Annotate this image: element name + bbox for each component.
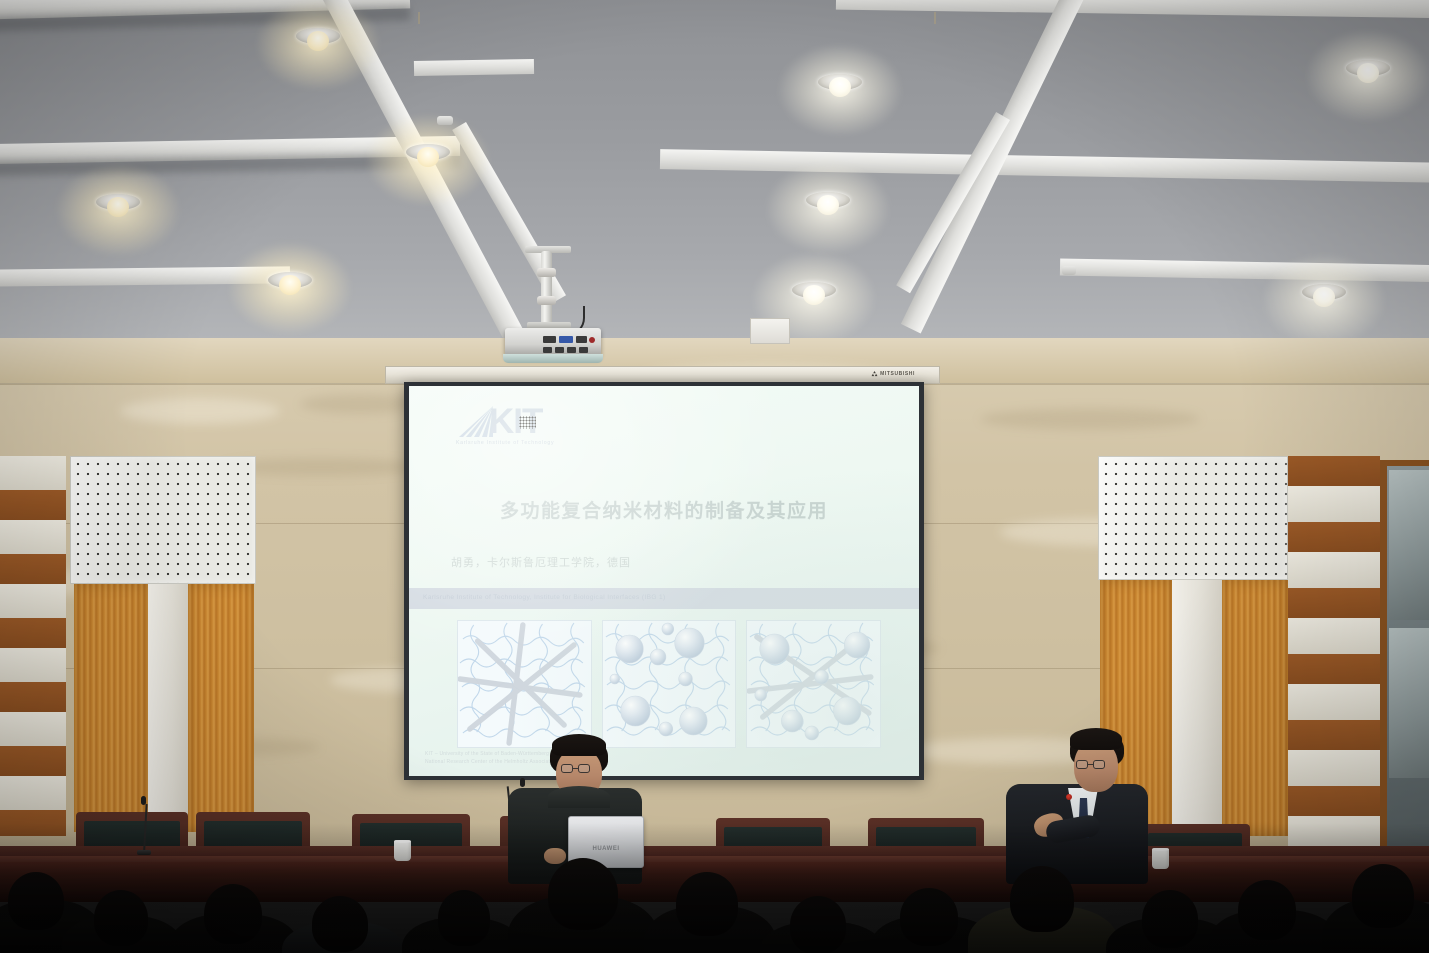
ceiling xyxy=(0,0,1429,345)
microphone-head xyxy=(141,796,146,805)
screen-hook-left xyxy=(418,12,420,24)
slide-institute-band: Karlsruhe Institute of Technology, Insti… xyxy=(409,588,919,609)
wall-mounted-box xyxy=(750,318,790,344)
audience-head xyxy=(676,872,738,936)
smoke-detector xyxy=(1062,266,1076,275)
mitsubishi-diamond-icon xyxy=(871,371,878,377)
screen-hook-right xyxy=(934,12,936,24)
ceiling-light-2 xyxy=(262,268,318,298)
projection-screen: KIT Karlsruhe Institute of Technology 多功… xyxy=(404,382,924,780)
speaker-hair-top xyxy=(1070,728,1122,750)
slide-institute-text: Karlsruhe Institute of Technology, Insti… xyxy=(423,594,666,601)
audience-head xyxy=(312,896,368,952)
audience-head xyxy=(8,872,64,930)
projector-port xyxy=(567,347,576,353)
wall-stripe xyxy=(1288,456,1380,486)
white-pillar-right xyxy=(1172,580,1222,836)
audience-head xyxy=(1238,880,1296,940)
doorway[interactable] xyxy=(1380,460,1429,860)
light-bulb xyxy=(107,197,129,217)
projector-base xyxy=(503,354,603,363)
audience-head xyxy=(204,884,262,944)
slide-illustration-panels xyxy=(457,620,881,748)
composite-panel xyxy=(746,620,881,748)
ceiling-beam-horizontal-7 xyxy=(414,59,534,76)
wall-stripe xyxy=(0,584,66,618)
kit-logo: KIT Karlsruhe Institute of Technology xyxy=(455,402,559,448)
projector-port xyxy=(543,336,556,343)
ceiling-light-4 xyxy=(400,140,456,170)
light-bulb xyxy=(307,31,329,51)
kit-tagline: Karlsruhe Institute of Technology xyxy=(456,440,554,446)
ceiling-beam-horizontal-5 xyxy=(660,149,1429,183)
light-bulb xyxy=(817,195,839,215)
glasses-lens-right xyxy=(1093,760,1105,769)
wall-stripe xyxy=(0,746,66,776)
ceiling-light-1 xyxy=(90,190,146,220)
wall-stripe xyxy=(1288,750,1380,786)
smoke-detector xyxy=(437,116,453,125)
lecture-hall-scene: MITSUBISHI KIT xyxy=(0,0,1429,953)
wall-stripe xyxy=(0,618,66,648)
screen-brand-text: MITSUBISHI xyxy=(880,371,915,377)
ceiling-light-8 xyxy=(1296,280,1352,310)
projector-speaker-grille xyxy=(519,416,536,429)
wall-stripe xyxy=(1288,786,1380,816)
glasses-lens-right xyxy=(578,764,590,773)
presenter-glasses xyxy=(561,764,597,775)
speaker-glasses xyxy=(1076,760,1114,771)
audience-head xyxy=(548,858,618,930)
wall-stripe xyxy=(0,810,66,836)
light-bulb xyxy=(803,285,825,305)
wall-stripe xyxy=(0,776,66,810)
projector-port xyxy=(555,347,564,353)
audience-head xyxy=(900,888,958,946)
slide-author-line: 胡勇，卡尔斯鲁厄理工学院，德国 xyxy=(451,554,631,570)
audience-head xyxy=(1142,890,1198,948)
wall-stripe xyxy=(1288,618,1380,654)
acoustic-panel-right xyxy=(1098,456,1288,580)
wall-stripe xyxy=(1288,684,1380,720)
projector-joint xyxy=(537,268,556,277)
wall-stripe xyxy=(0,648,66,682)
wall-stripe xyxy=(1288,654,1380,684)
glasses-lens-left xyxy=(1076,760,1088,769)
audience-head xyxy=(790,896,846,953)
light-bulb xyxy=(417,147,439,167)
left-stripe-wall xyxy=(0,456,66,836)
screen-brand-label: MITSUBISHI xyxy=(871,371,915,377)
wall-stripe xyxy=(0,712,66,746)
slide-surface: KIT Karlsruhe Institute of Technology 多功… xyxy=(409,386,919,776)
audience-row xyxy=(0,840,1429,953)
slide-title: 多功能复合纳米材料的制备及其应用 xyxy=(409,496,919,523)
ceiling-light-5 xyxy=(812,70,868,100)
acoustic-panel-left xyxy=(70,456,256,584)
ceiling-light-7 xyxy=(800,188,856,218)
projector-port xyxy=(543,347,552,353)
audience-head xyxy=(1010,866,1074,932)
nanofibers-panel xyxy=(457,620,592,748)
light-bulb xyxy=(829,77,851,97)
projector-vga-port xyxy=(559,336,573,343)
presenter-collar xyxy=(548,786,610,808)
light-bulb xyxy=(1313,287,1335,307)
nanospheres-panel xyxy=(602,620,737,748)
door-glass-panel xyxy=(1389,470,1429,620)
right-stripe-wall xyxy=(1288,456,1380,856)
wall-stripe xyxy=(0,520,66,554)
ceiling-light-6 xyxy=(786,278,842,308)
projector-port xyxy=(579,347,588,353)
wall-stripe xyxy=(1288,486,1380,522)
projector-pole xyxy=(541,251,552,325)
audience-head xyxy=(94,890,148,946)
presenter-hair-top xyxy=(552,734,606,756)
wall-stripe xyxy=(1288,588,1380,618)
door-glass-panel xyxy=(1389,628,1429,778)
glasses-lens-left xyxy=(561,764,573,773)
wall-stripe xyxy=(0,456,66,490)
wall-stripe xyxy=(1288,552,1380,588)
light-bulb xyxy=(1357,63,1379,83)
white-pillar-left xyxy=(148,584,188,832)
wood-slat-column-left-b xyxy=(188,584,254,832)
projector-joint xyxy=(537,296,556,305)
projector-av-port xyxy=(589,337,595,343)
ceiling-light-9 xyxy=(1340,56,1396,86)
wall-stripe xyxy=(1288,720,1380,750)
audience-head xyxy=(1352,864,1414,928)
ceiling-light-3 xyxy=(290,24,346,54)
speaker-lapel-pin xyxy=(1066,794,1072,800)
projector-port xyxy=(576,336,587,343)
wall-stripe xyxy=(0,554,66,584)
audience-head xyxy=(438,890,490,946)
ceiling-beam-horizontal-4 xyxy=(836,0,1429,18)
wall-stripe xyxy=(0,490,66,520)
ceiling-projector xyxy=(497,246,609,368)
wall-stripe xyxy=(0,682,66,712)
light-bulb xyxy=(279,275,301,295)
wood-slat-column-right-b xyxy=(1222,580,1288,836)
wall-stripe xyxy=(1288,522,1380,552)
